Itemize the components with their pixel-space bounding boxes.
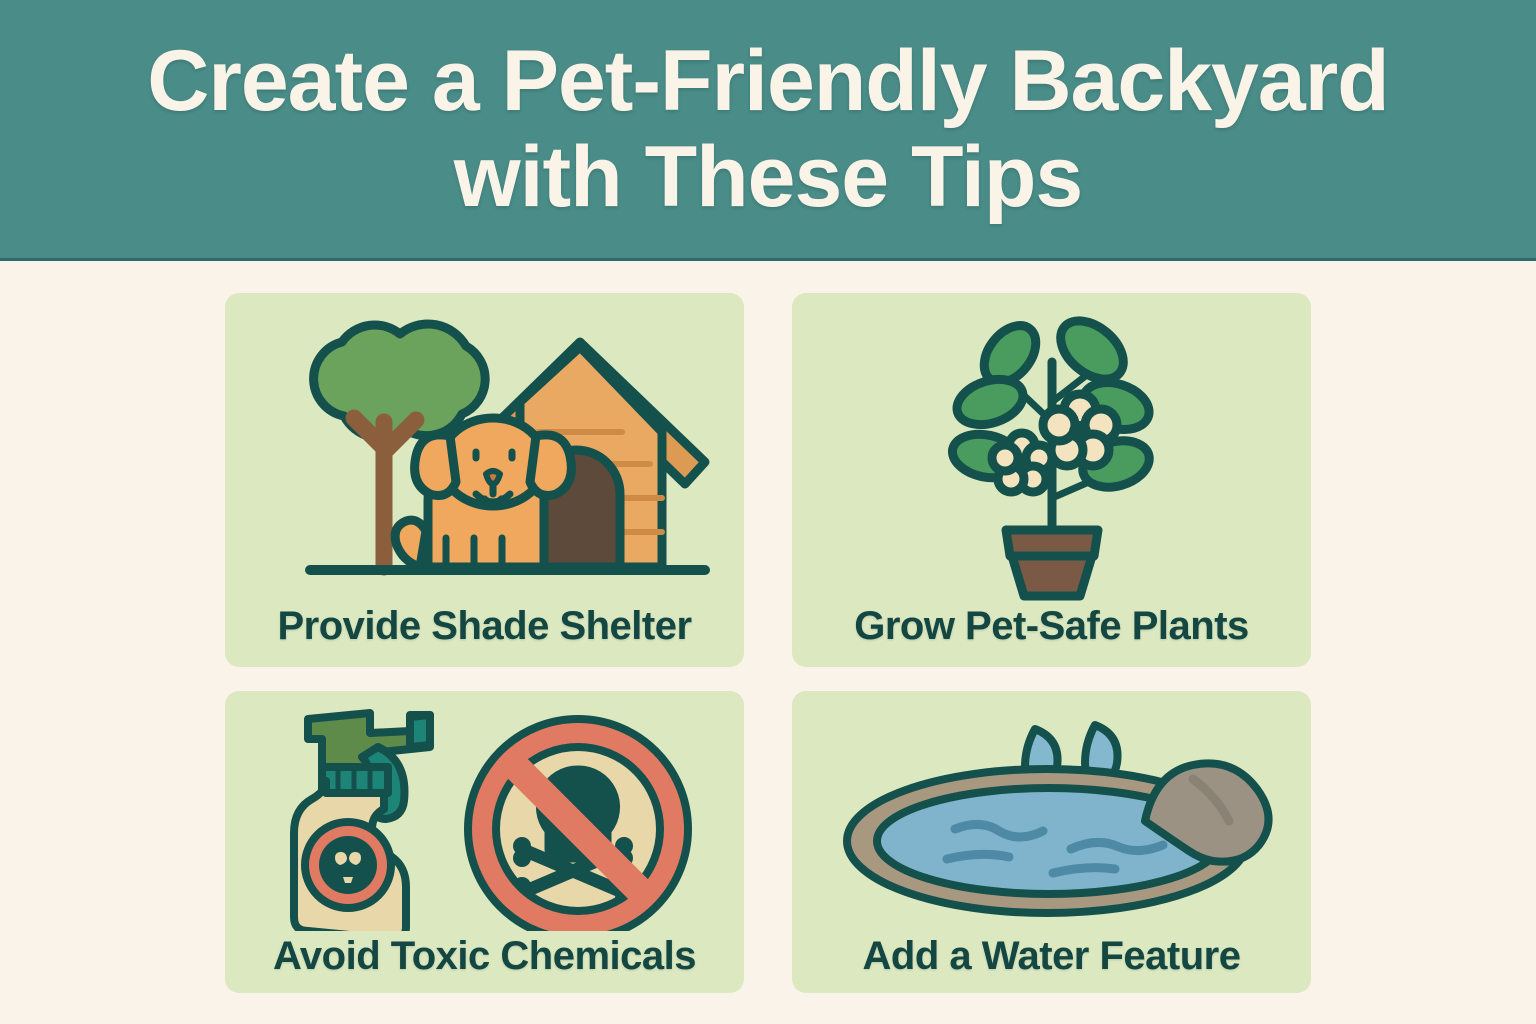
potted-plant-icon xyxy=(902,302,1202,602)
card-avoid-toxic-chemicals[interactable]: Avoid Toxic Chemicals xyxy=(225,691,744,993)
page-title: Create a Pet-Friendly Backyard with Thes… xyxy=(73,33,1463,226)
card-grow-pet-safe-plants[interactable]: Grow Pet-Safe Plants xyxy=(792,293,1311,667)
tree-dog-doghouse-icon xyxy=(250,302,720,602)
card-label: Avoid Toxic Chemicals xyxy=(225,934,744,993)
card-label: Add a Water Feature xyxy=(792,934,1311,993)
card-add-a-water-feature[interactable]: Add a Water Feature xyxy=(792,691,1311,993)
card-label: Provide Shade Shelter xyxy=(225,604,744,667)
infographic-page: Create a Pet-Friendly Backyard with Thes… xyxy=(0,0,1536,1024)
spray-bottle-poison-icon xyxy=(260,701,710,931)
pond-water-feature-icon xyxy=(827,701,1277,931)
tips-grid: Provide Shade Shelter xyxy=(225,293,1311,993)
card-label: Grow Pet-Safe Plants xyxy=(792,604,1311,667)
pet-safe-plants-illustration xyxy=(792,293,1311,604)
water-feature-illustration xyxy=(792,691,1311,934)
shade-shelter-illustration xyxy=(225,293,744,604)
header-banner: Create a Pet-Friendly Backyard with Thes… xyxy=(0,0,1536,261)
card-provide-shade-shelter[interactable]: Provide Shade Shelter xyxy=(225,293,744,667)
toxic-chemicals-illustration xyxy=(225,691,744,934)
